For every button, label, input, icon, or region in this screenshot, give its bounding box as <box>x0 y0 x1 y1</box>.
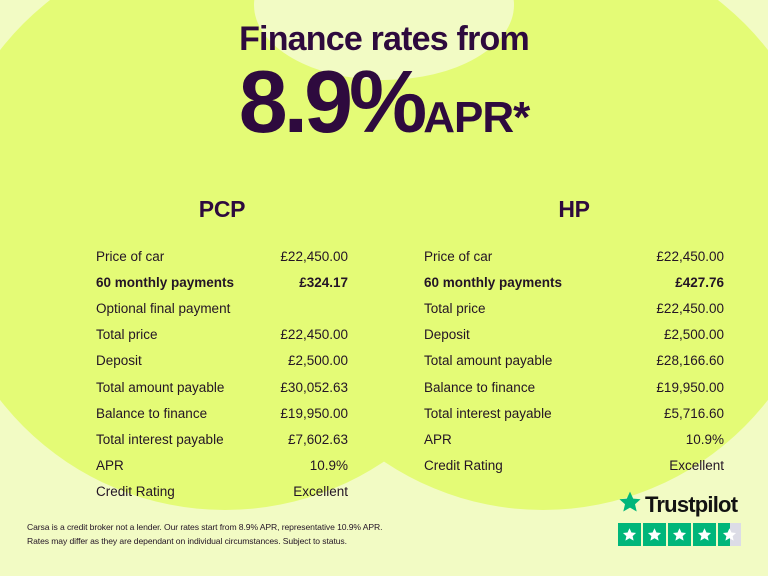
table-row: Total amount payable£30,052.63 <box>96 374 348 400</box>
table-row: Credit RatingExcellent <box>424 453 724 479</box>
row-value: £28,166.60 <box>656 353 724 368</box>
row-value: Excellent <box>293 484 348 499</box>
table-row: Balance to finance£19,950.00 <box>424 374 724 400</box>
row-value: 10.9% <box>310 458 348 473</box>
disclaimer-line-1: Carsa is a credit broker not a lender. O… <box>27 521 457 534</box>
row-value: £2,500.00 <box>664 327 724 342</box>
row-label: Credit Rating <box>424 458 503 473</box>
table-row: Deposit£2,500.00 <box>424 322 724 348</box>
row-value: Excellent <box>669 458 724 473</box>
trustpilot-logo[interactable]: Trustpilot <box>618 490 748 546</box>
star-icon <box>668 523 691 546</box>
row-label: 60 monthly payments <box>424 275 562 290</box>
row-label: Total price <box>96 327 158 342</box>
row-label: Total price <box>424 301 486 316</box>
row-label: APR <box>424 432 452 447</box>
row-label: Total amount payable <box>424 353 552 368</box>
table-row: Optional final payment <box>96 295 348 321</box>
table-row: Total interest payable£7,602.63 <box>96 426 348 452</box>
row-value: £22,450.00 <box>656 301 724 316</box>
star-half-icon <box>718 523 741 546</box>
row-value: £19,950.00 <box>280 406 348 421</box>
trustpilot-wordmark-text: Trustpilot <box>645 494 737 516</box>
disclaimer-line-2: Rates may differ as they are dependant o… <box>27 535 457 548</box>
row-value: £2,500.00 <box>288 353 348 368</box>
star-icon <box>618 523 641 546</box>
row-label: Total interest payable <box>96 432 224 447</box>
row-label: Balance to finance <box>424 380 535 395</box>
headline-rate: 8.9%APR* <box>0 58 768 146</box>
table-row: 60 monthly payments£324.17 <box>96 269 348 295</box>
row-value: £7,602.63 <box>288 432 348 447</box>
trustpilot-star-icon <box>618 490 642 519</box>
table-row: Balance to finance£19,950.00 <box>96 400 348 426</box>
table-row: Total interest payable£5,716.60 <box>424 400 724 426</box>
row-value: £22,450.00 <box>656 249 724 264</box>
trustpilot-rating-stars <box>618 523 748 546</box>
finance-tables: PCP Price of car£22,450.00 60 monthly pa… <box>0 196 768 505</box>
row-label: 60 monthly payments <box>96 275 234 290</box>
promo-card: Finance rates from 8.9%APR* PCP Price of… <box>0 0 768 576</box>
row-label: Deposit <box>96 353 142 368</box>
row-label: Total interest payable <box>424 406 552 421</box>
table-row: Credit RatingExcellent <box>96 479 348 505</box>
table-row: 60 monthly payments£427.76 <box>424 269 724 295</box>
table-row: Total amount payable£28,166.60 <box>424 348 724 374</box>
row-value: £5,716.60 <box>664 406 724 421</box>
trustpilot-wordmark: Trustpilot <box>618 490 748 519</box>
row-value: £22,450.00 <box>280 249 348 264</box>
row-label: Credit Rating <box>96 484 175 499</box>
row-label: Total amount payable <box>96 380 224 395</box>
finance-table-hp: HP Price of car£22,450.00 60 monthly pay… <box>384 196 768 505</box>
table-row: Deposit£2,500.00 <box>96 348 348 374</box>
table-row: Price of car£22,450.00 <box>96 243 348 269</box>
row-value: £30,052.63 <box>280 380 348 395</box>
row-value: 10.9% <box>686 432 724 447</box>
star-icon <box>693 523 716 546</box>
row-label: Optional final payment <box>96 301 230 316</box>
table-row: Total price£22,450.00 <box>96 322 348 348</box>
row-value: £427.76 <box>675 275 724 290</box>
row-label: Price of car <box>424 249 492 264</box>
row-value: £19,950.00 <box>656 380 724 395</box>
row-label: Balance to finance <box>96 406 207 421</box>
finance-table-pcp-title: PCP <box>96 196 348 223</box>
row-label: Deposit <box>424 327 470 342</box>
table-row: APR10.9% <box>424 426 724 452</box>
disclaimer-text: Carsa is a credit broker not a lender. O… <box>27 521 457 548</box>
row-label: APR <box>96 458 124 473</box>
row-value: £324.17 <box>299 275 348 290</box>
star-icon <box>643 523 666 546</box>
table-row: Price of car£22,450.00 <box>424 243 724 269</box>
table-row: APR10.9% <box>96 453 348 479</box>
row-label: Price of car <box>96 249 164 264</box>
row-value: £22,450.00 <box>280 327 348 342</box>
finance-table-pcp: PCP Price of car£22,450.00 60 monthly pa… <box>0 196 384 505</box>
rate-suffix: APR* <box>423 93 529 142</box>
rate-value: 8.9% <box>239 52 424 151</box>
finance-table-hp-title: HP <box>424 196 724 223</box>
table-row: Total price£22,450.00 <box>424 295 724 321</box>
